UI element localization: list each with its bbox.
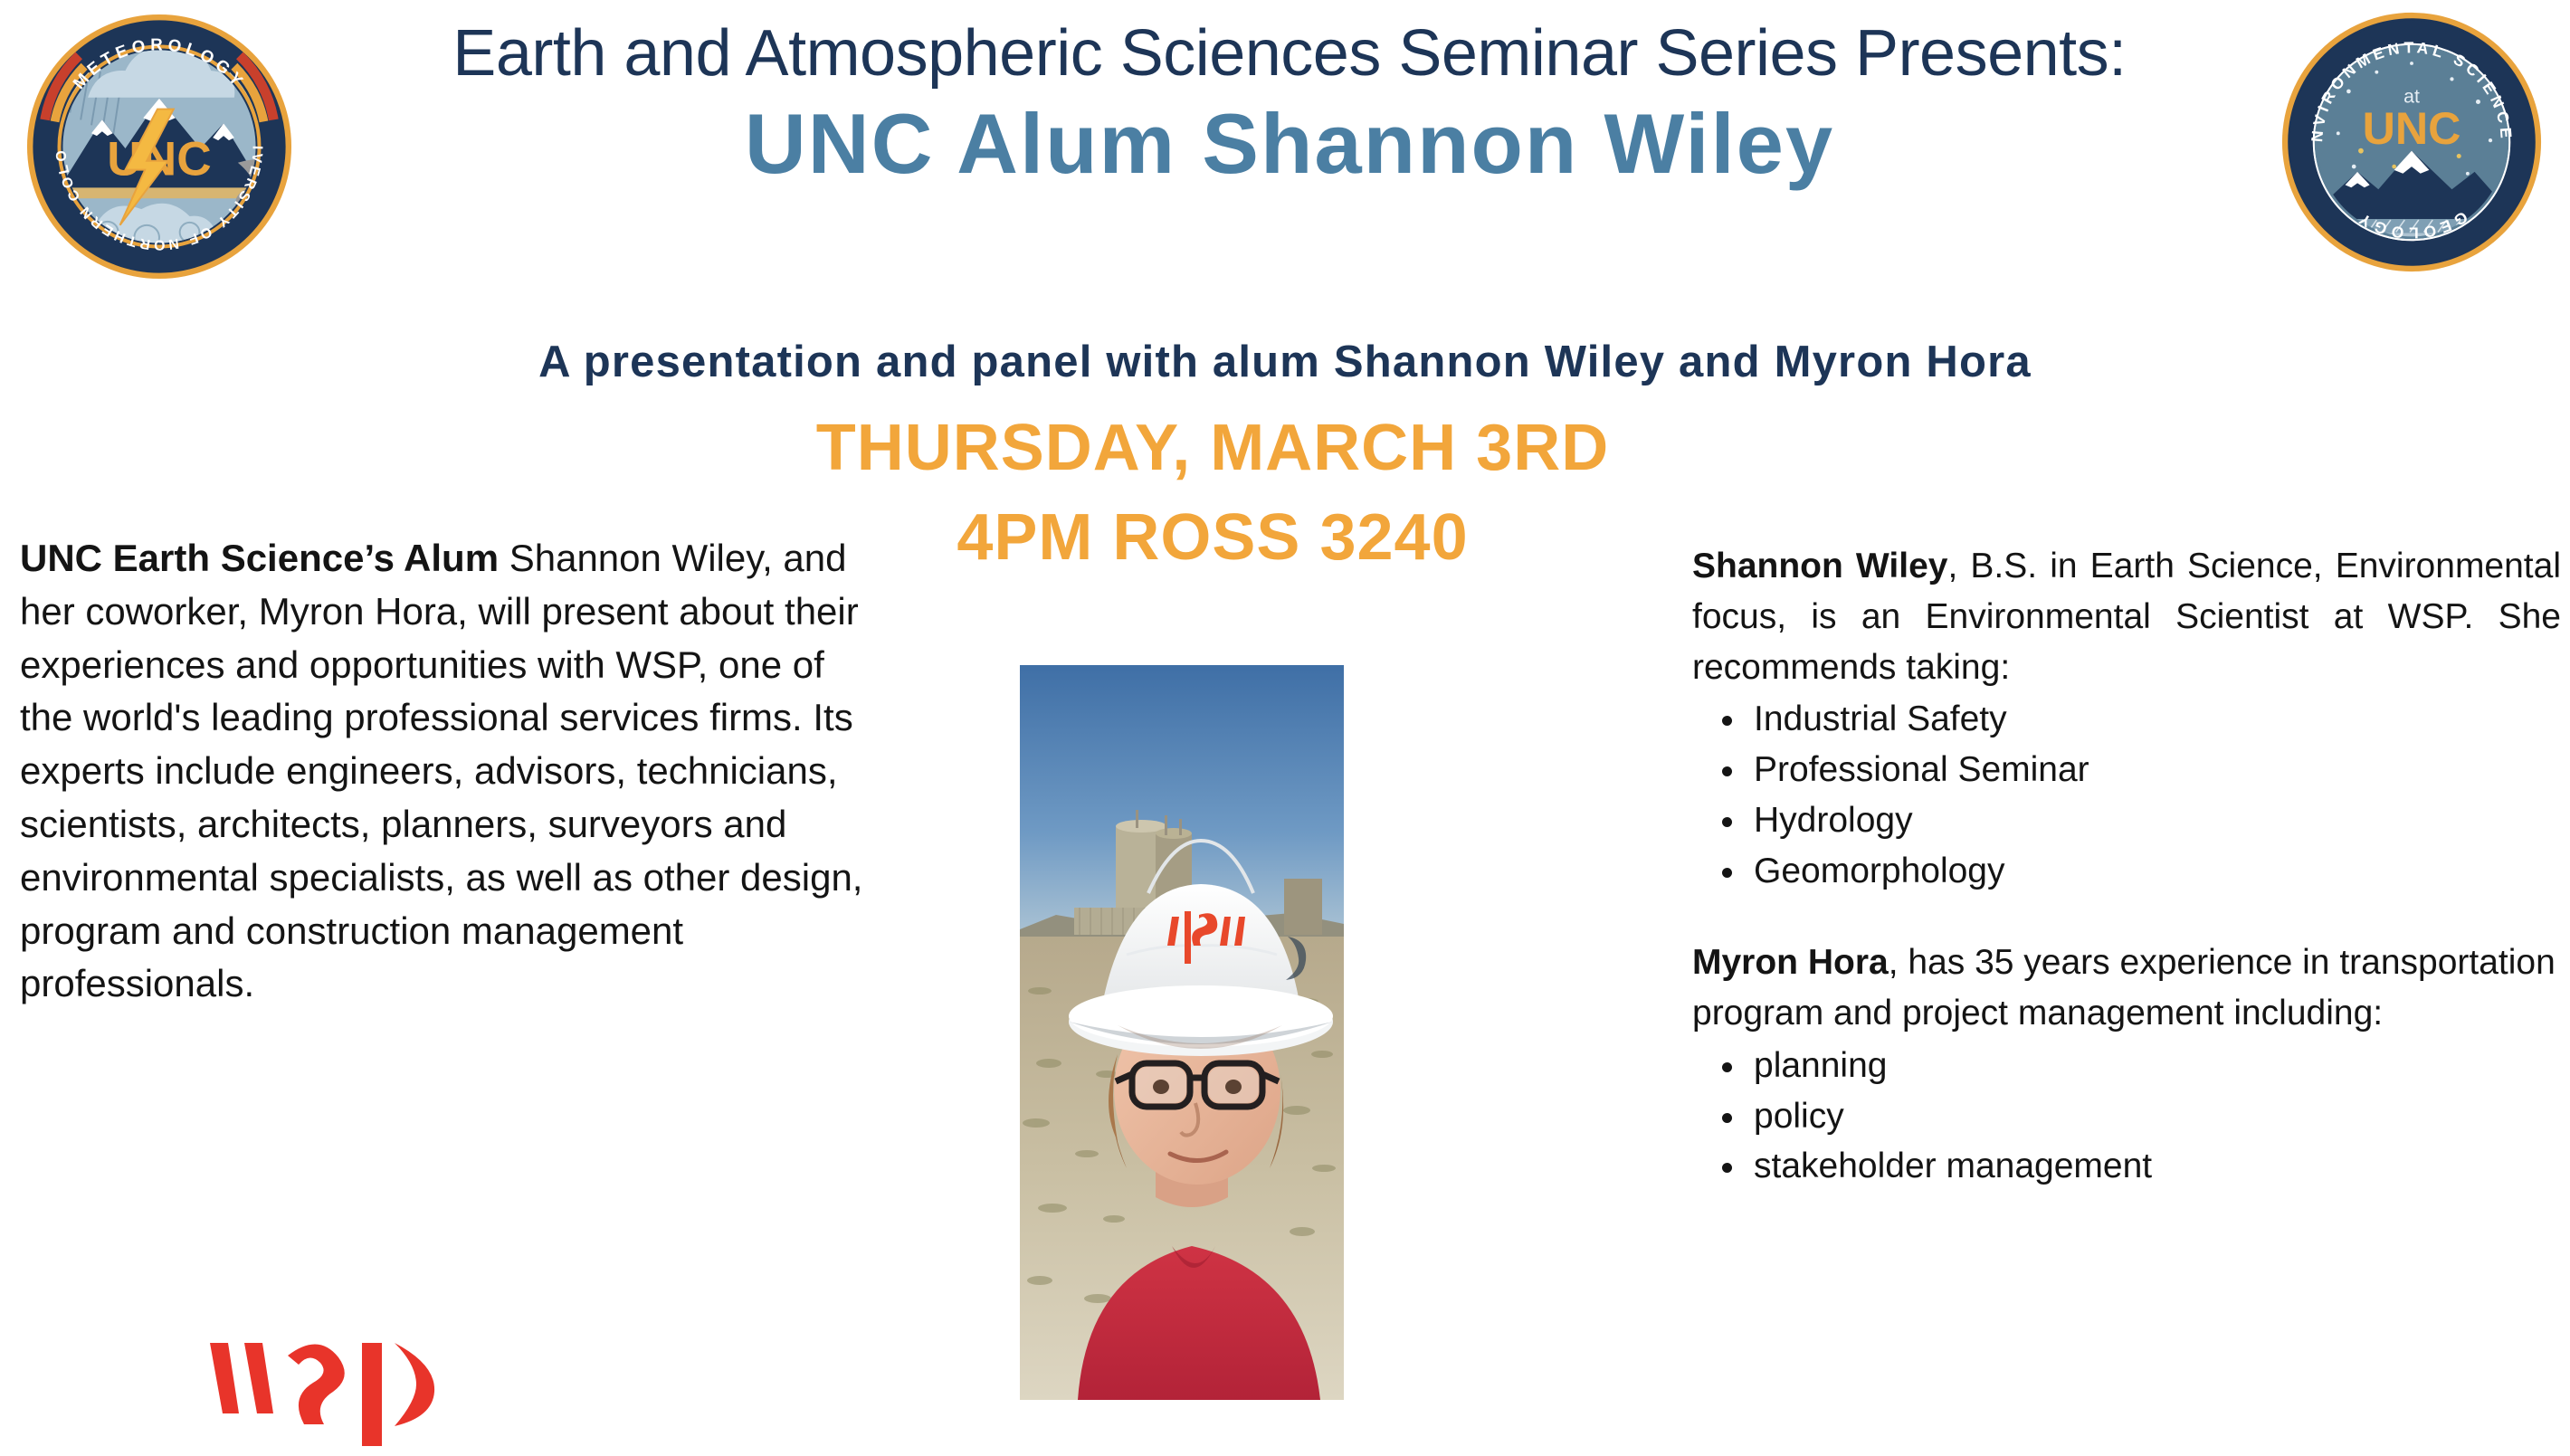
- list-item: policy: [1748, 1091, 2561, 1142]
- list-item: Professional Seminar: [1748, 745, 2561, 795]
- description-body: Shannon Wiley, and her coworker, Myron H…: [20, 537, 862, 1004]
- list-item: Geomorphology: [1748, 846, 2561, 897]
- seal-center-text: UNC: [2363, 103, 2461, 154]
- wiley-course-list: Industrial Safety Professional Seminar H…: [1748, 694, 2561, 896]
- speaker-name-title: UNC Alum Shannon Wiley: [308, 96, 2271, 191]
- poster-header: UNC METEOROLOGY at UNIVERSITY: [0, 0, 2570, 380]
- description-lead: UNC Earth Science’s Alum: [20, 537, 499, 579]
- title-block: Earth and Atmospheric Sciences Seminar S…: [308, 20, 2271, 191]
- unc-environmental-sciences-seal-icon: at UNC: [2280, 11, 2543, 273]
- list-item: Industrial Safety: [1748, 694, 2561, 745]
- speaker-photo: [1020, 665, 1344, 1400]
- panel-description: A presentation and panel with alum Shann…: [0, 337, 2570, 387]
- wsp-logo: [201, 1330, 463, 1448]
- list-item: planning: [1748, 1041, 2561, 1091]
- list-item: stakeholder management: [1748, 1141, 2561, 1192]
- bio-myron-hora: Myron Hora, has 35 years experience in t…: [1692, 937, 2561, 1192]
- event-location: 4PM ROSS 3240: [760, 501, 1665, 575]
- bio-hora-name: Myron Hora: [1692, 943, 1889, 982]
- unc-meteorology-seal-icon: UNC METEOROLOGY at UNIVERSITY: [25, 13, 293, 281]
- speaker-bios-column: Shannon Wiley, B.S. in Earth Science, En…: [1692, 541, 2561, 1192]
- list-item: Hydrology: [1748, 795, 2561, 846]
- seal-center-text: UNC: [107, 133, 211, 186]
- event-details: THURSDAY, MARCH 3RD 4PM ROSS 3240: [760, 412, 1665, 574]
- seminar-series-title: Earth and Atmospheric Sciences Seminar S…: [308, 20, 2271, 89]
- bio-wiley-name: Shannon Wiley: [1692, 547, 1947, 585]
- bio-hora-paragraph: Myron Hora, has 35 years experience in t…: [1692, 937, 2561, 1039]
- description-paragraph: UNC Earth Science’s Alum Shannon Wiley, …: [20, 532, 880, 1011]
- bio-wiley-paragraph: Shannon Wiley, B.S. in Earth Science, En…: [1692, 541, 2561, 692]
- description-column: UNC Earth Science’s Alum Shannon Wiley, …: [20, 532, 880, 1011]
- hora-expertise-list: planning policy stakeholder management: [1748, 1041, 2561, 1192]
- bio-shannon-wiley: Shannon Wiley, B.S. in Earth Science, En…: [1692, 541, 2561, 896]
- event-date: THURSDAY, MARCH 3RD: [760, 412, 1665, 485]
